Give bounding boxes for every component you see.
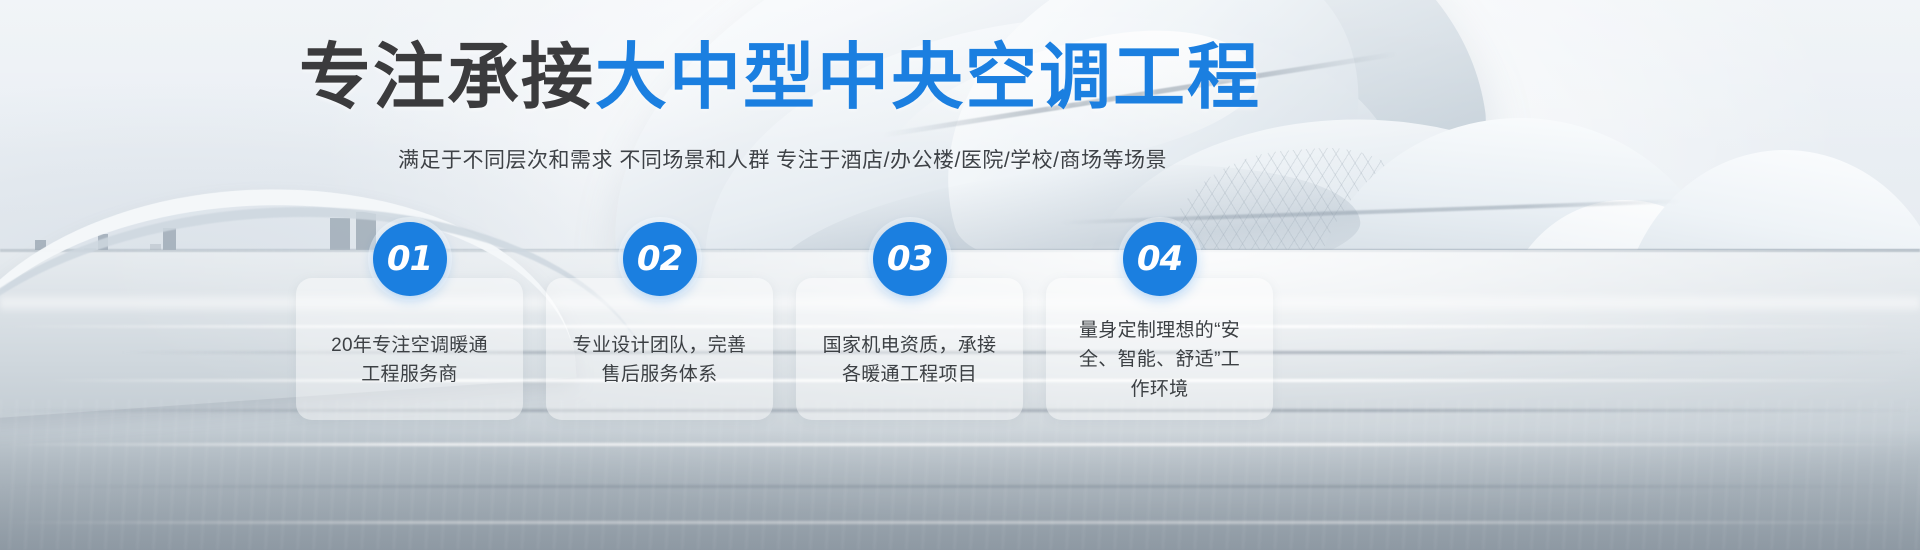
headline-prefix: 专注承接 xyxy=(299,38,595,118)
page-title: 专注承接大中型中央空调工程 xyxy=(0,42,1560,114)
feature-number-02: 02 xyxy=(637,239,682,279)
feature-badge-03: 03 xyxy=(873,222,947,296)
feature-number-04: 04 xyxy=(1137,239,1182,279)
feature-card-03[interactable]: 03 国家机电资质，承接各暖通工程项目 xyxy=(796,278,1023,420)
feature-text-03: 国家机电资质，承接各暖通工程项目 xyxy=(822,309,998,390)
feature-text-04: 量身定制理想的“安全、智能、舒适”工作环境 xyxy=(1072,294,1248,404)
feature-text-01: 20年专注空调暖通工程服务商 xyxy=(322,309,498,390)
page-subtitle: 满足于不同层次和需求 不同场景和人群 专注于酒店/办公楼/医院/学校/商场等场景 xyxy=(0,144,1565,174)
feature-badge-04: 04 xyxy=(1123,222,1197,296)
feature-badge-02: 02 xyxy=(623,222,697,296)
feature-card-02[interactable]: 02 专业设计团队，完善售后服务体系 xyxy=(546,278,773,420)
headline-highlight: 大中型中央空调工程 xyxy=(595,38,1261,118)
feature-number-03: 03 xyxy=(887,239,932,279)
banner-content: 专注承接大中型中央空调工程 满足于不同层次和需求 不同场景和人群 专注于酒店/办… xyxy=(0,0,1920,550)
feature-card-01[interactable]: 01 20年专注空调暖通工程服务商 xyxy=(296,278,523,420)
hero-banner: 专注承接大中型中央空调工程 满足于不同层次和需求 不同场景和人群 专注于酒店/办… xyxy=(0,0,1920,550)
feature-number-01: 01 xyxy=(387,239,432,279)
feature-text-02: 专业设计团队，完善售后服务体系 xyxy=(572,309,748,390)
feature-badge-01: 01 xyxy=(373,222,447,296)
feature-card-04[interactable]: 04 量身定制理想的“安全、智能、舒适”工作环境 xyxy=(1046,278,1273,420)
feature-card-list: 01 20年专注空调暖通工程服务商 02 专业设计团队，完善售后服务体系 03 … xyxy=(296,278,1273,420)
